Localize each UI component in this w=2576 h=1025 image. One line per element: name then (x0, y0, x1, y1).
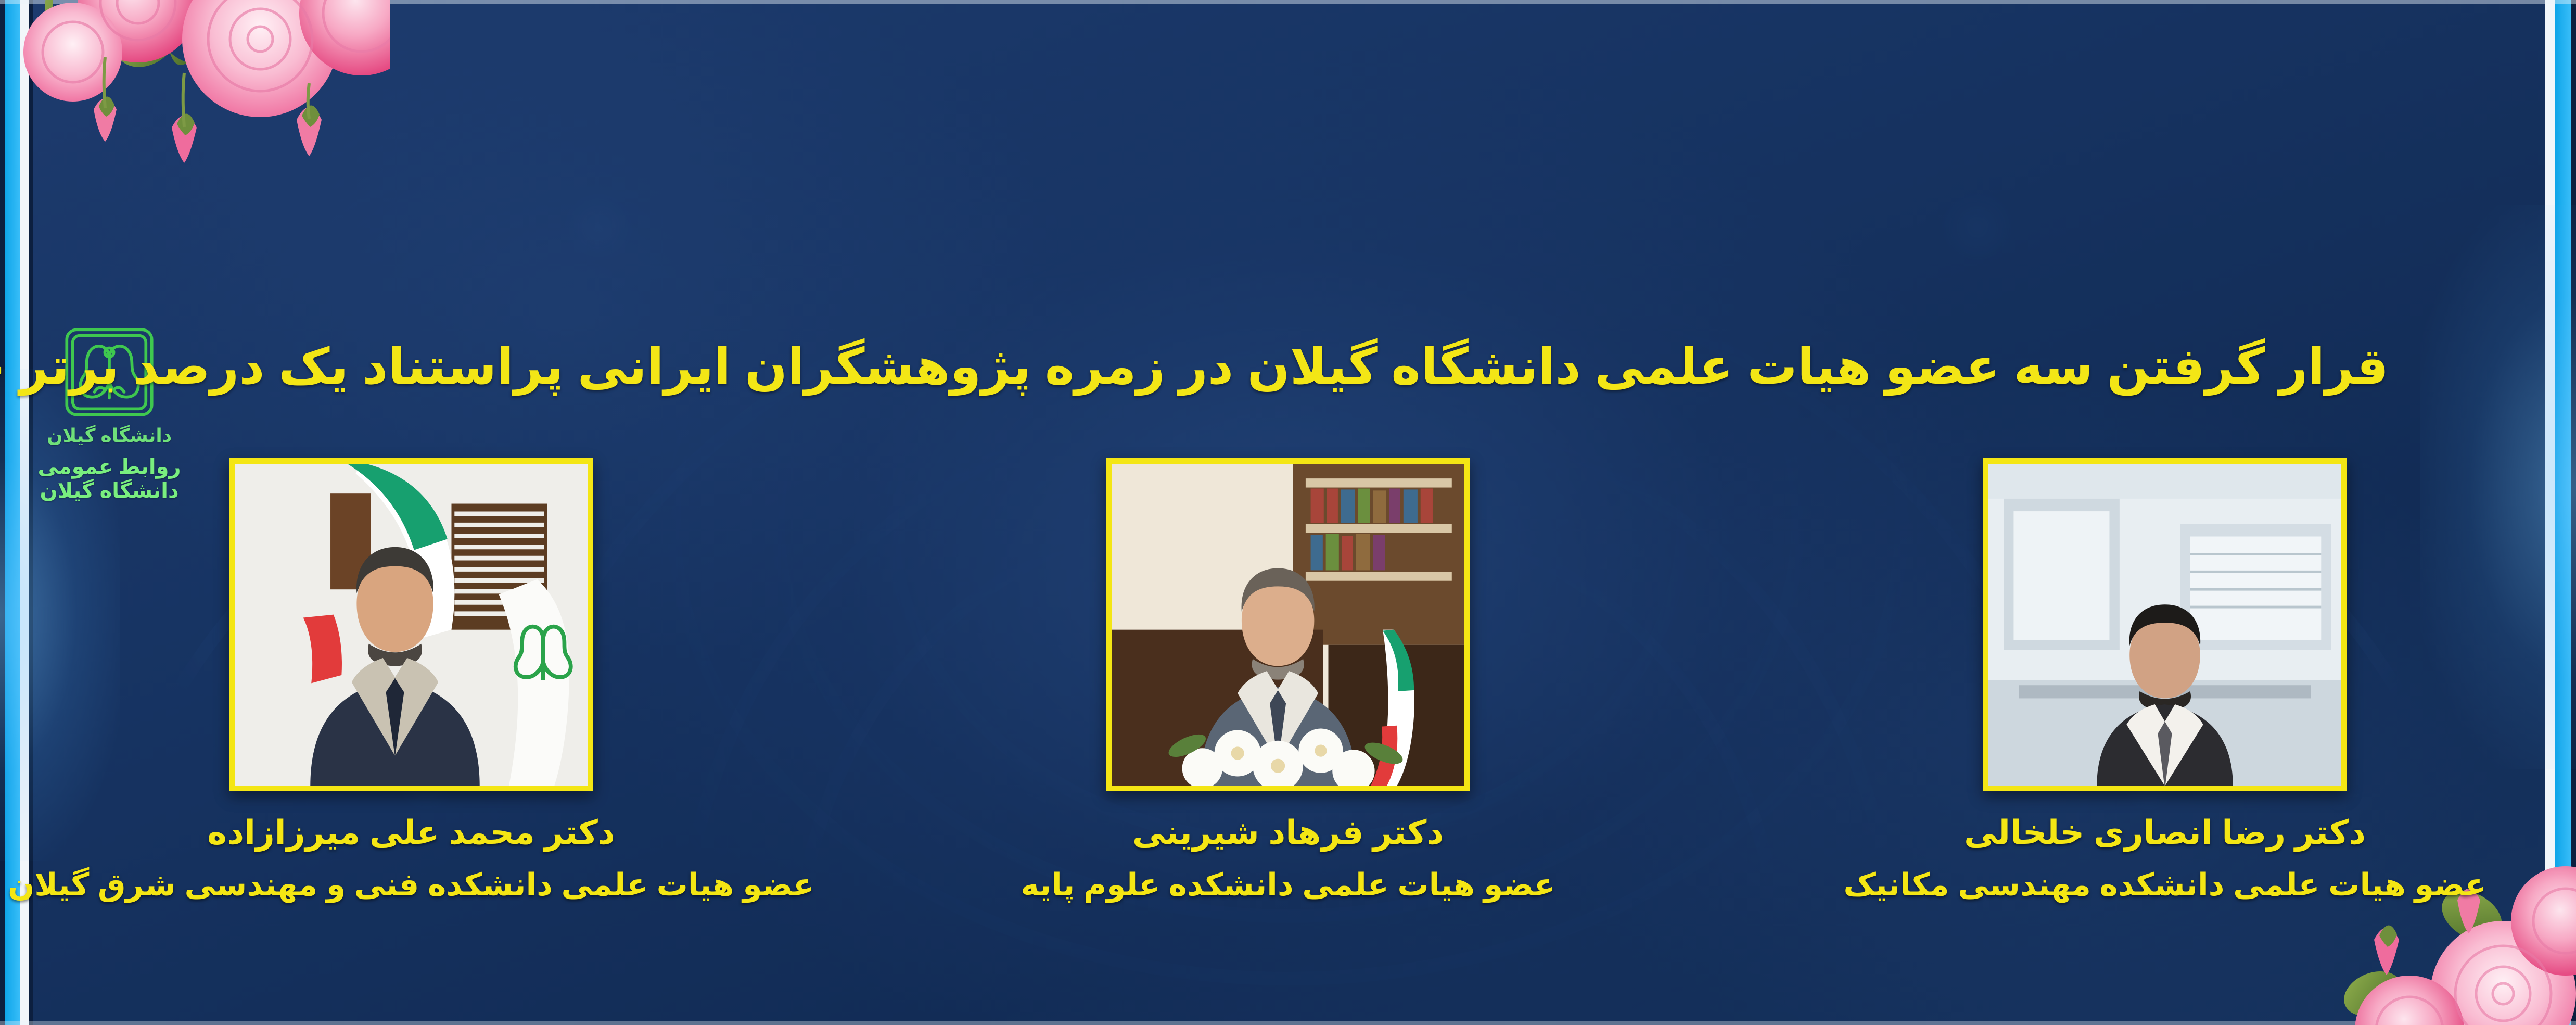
researcher-name: دکتر فرهاد شیرینی (1132, 813, 1444, 852)
border-right-white (2545, 0, 2555, 1025)
page-title: قرار گرفتن سه عضو هیات علمی دانشگاه گیلا… (0, 337, 2576, 396)
researcher-photo (1106, 458, 1470, 791)
researcher-card: دکتر فرهاد شیرینی عضو هیات علمی دانشکده … (934, 458, 1642, 903)
researcher-card: دکتر محمد علی میرزازاده عضو هیات علمی دا… (57, 458, 765, 903)
university-name: دانشگاه گیلان (16, 425, 203, 447)
researchers-row: دکتر رضا انصاری خلخالی عضو هیات علمی دان… (57, 458, 2519, 903)
poster-banner: دانشگاه گیلان روابط عمومی دانشگاه گیلان … (0, 0, 2576, 1025)
border-right-dark (2571, 0, 2576, 1025)
border-left-dark (0, 0, 5, 1025)
researcher-role: عضو هیات علمی دانشکده علوم پایه (1021, 867, 1555, 903)
researcher-role: عضو هیات علمی دانشکده فنی و مهندسی شرق گ… (8, 867, 814, 903)
border-right-cyan (2555, 0, 2571, 1025)
researcher-name: دکتر رضا انصاری خلخالی (1964, 813, 2366, 852)
researcher-photo (1983, 458, 2347, 791)
researcher-role: عضو هیات علمی دانشکده مهندسی مکانیک (1844, 867, 2486, 903)
researcher-card: دکتر رضا انصاری خلخالی عضو هیات علمی دان… (1811, 458, 2519, 903)
researcher-photo (229, 458, 593, 791)
pink-roses-icon (16, 0, 390, 203)
iran-flag (1863, 0, 2576, 224)
researcher-name: دکتر محمد علی میرزازاده (207, 813, 615, 852)
border-top (0, 0, 2576, 4)
border-bottom (0, 1021, 2576, 1025)
